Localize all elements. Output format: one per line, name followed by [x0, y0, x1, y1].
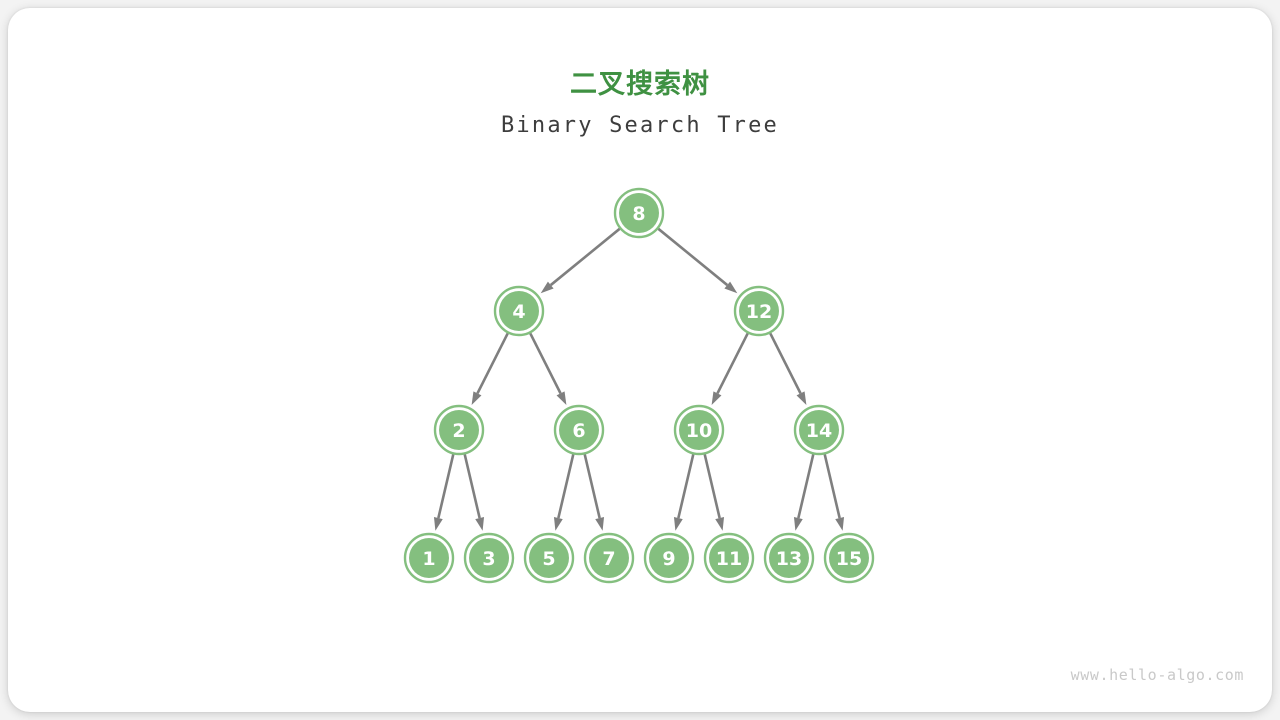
tree-node-value: 1 [422, 548, 435, 570]
tree-node-value: 8 [632, 203, 645, 225]
binary-search-tree-diagram: 841226101413579111315 [8, 8, 1272, 712]
tree-node-value: 5 [542, 548, 555, 570]
tree-edge [658, 229, 737, 293]
tree-node-value: 11 [716, 548, 742, 570]
diagram-card: 二叉搜索树 Binary Search Tree 841226101413579… [8, 8, 1272, 712]
tree-node: 2 [435, 406, 483, 454]
tree-edge [554, 454, 573, 530]
tree-edge [705, 454, 724, 530]
tree-node: 6 [555, 406, 603, 454]
watermark-url: www.hello-algo.com [1071, 666, 1244, 684]
tree-node-value: 7 [602, 548, 615, 570]
tree-edge [770, 333, 806, 405]
tree-node: 14 [795, 406, 843, 454]
tree-edge [530, 333, 566, 405]
tree-edge [825, 454, 844, 530]
tree-node-value: 3 [482, 548, 495, 570]
tree-edge [794, 454, 813, 530]
tree-node: 7 [585, 534, 633, 582]
tree-node-value: 15 [836, 548, 862, 570]
tree-edge [465, 454, 484, 530]
tree-node: 3 [465, 534, 513, 582]
tree-node: 12 [735, 287, 783, 335]
tree-node: 15 [825, 534, 873, 582]
tree-node-value: 2 [452, 420, 465, 442]
tree-edge [472, 333, 508, 405]
tree-node-value: 10 [686, 420, 712, 442]
tree-node-value: 14 [806, 420, 832, 442]
tree-node: 10 [675, 406, 723, 454]
tree-edge [585, 454, 604, 530]
tree-node: 1 [405, 534, 453, 582]
tree-edges-layer [434, 229, 844, 531]
tree-edge [541, 229, 620, 293]
tree-node: 5 [525, 534, 573, 582]
tree-edge [434, 454, 453, 530]
tree-node: 9 [645, 534, 693, 582]
tree-node-value: 13 [776, 548, 802, 570]
tree-edge [712, 333, 748, 405]
tree-nodes-layer: 841226101413579111315 [405, 189, 873, 582]
tree-node-value: 12 [746, 301, 772, 323]
tree-edge [674, 454, 693, 530]
tree-node: 11 [705, 534, 753, 582]
tree-node-value: 4 [512, 301, 525, 323]
tree-node: 8 [615, 189, 663, 237]
screenshot-stage: 二叉搜索树 Binary Search Tree 841226101413579… [0, 0, 1280, 720]
tree-node: 4 [495, 287, 543, 335]
tree-node: 13 [765, 534, 813, 582]
tree-node-value: 9 [662, 548, 675, 570]
tree-node-value: 6 [572, 420, 585, 442]
